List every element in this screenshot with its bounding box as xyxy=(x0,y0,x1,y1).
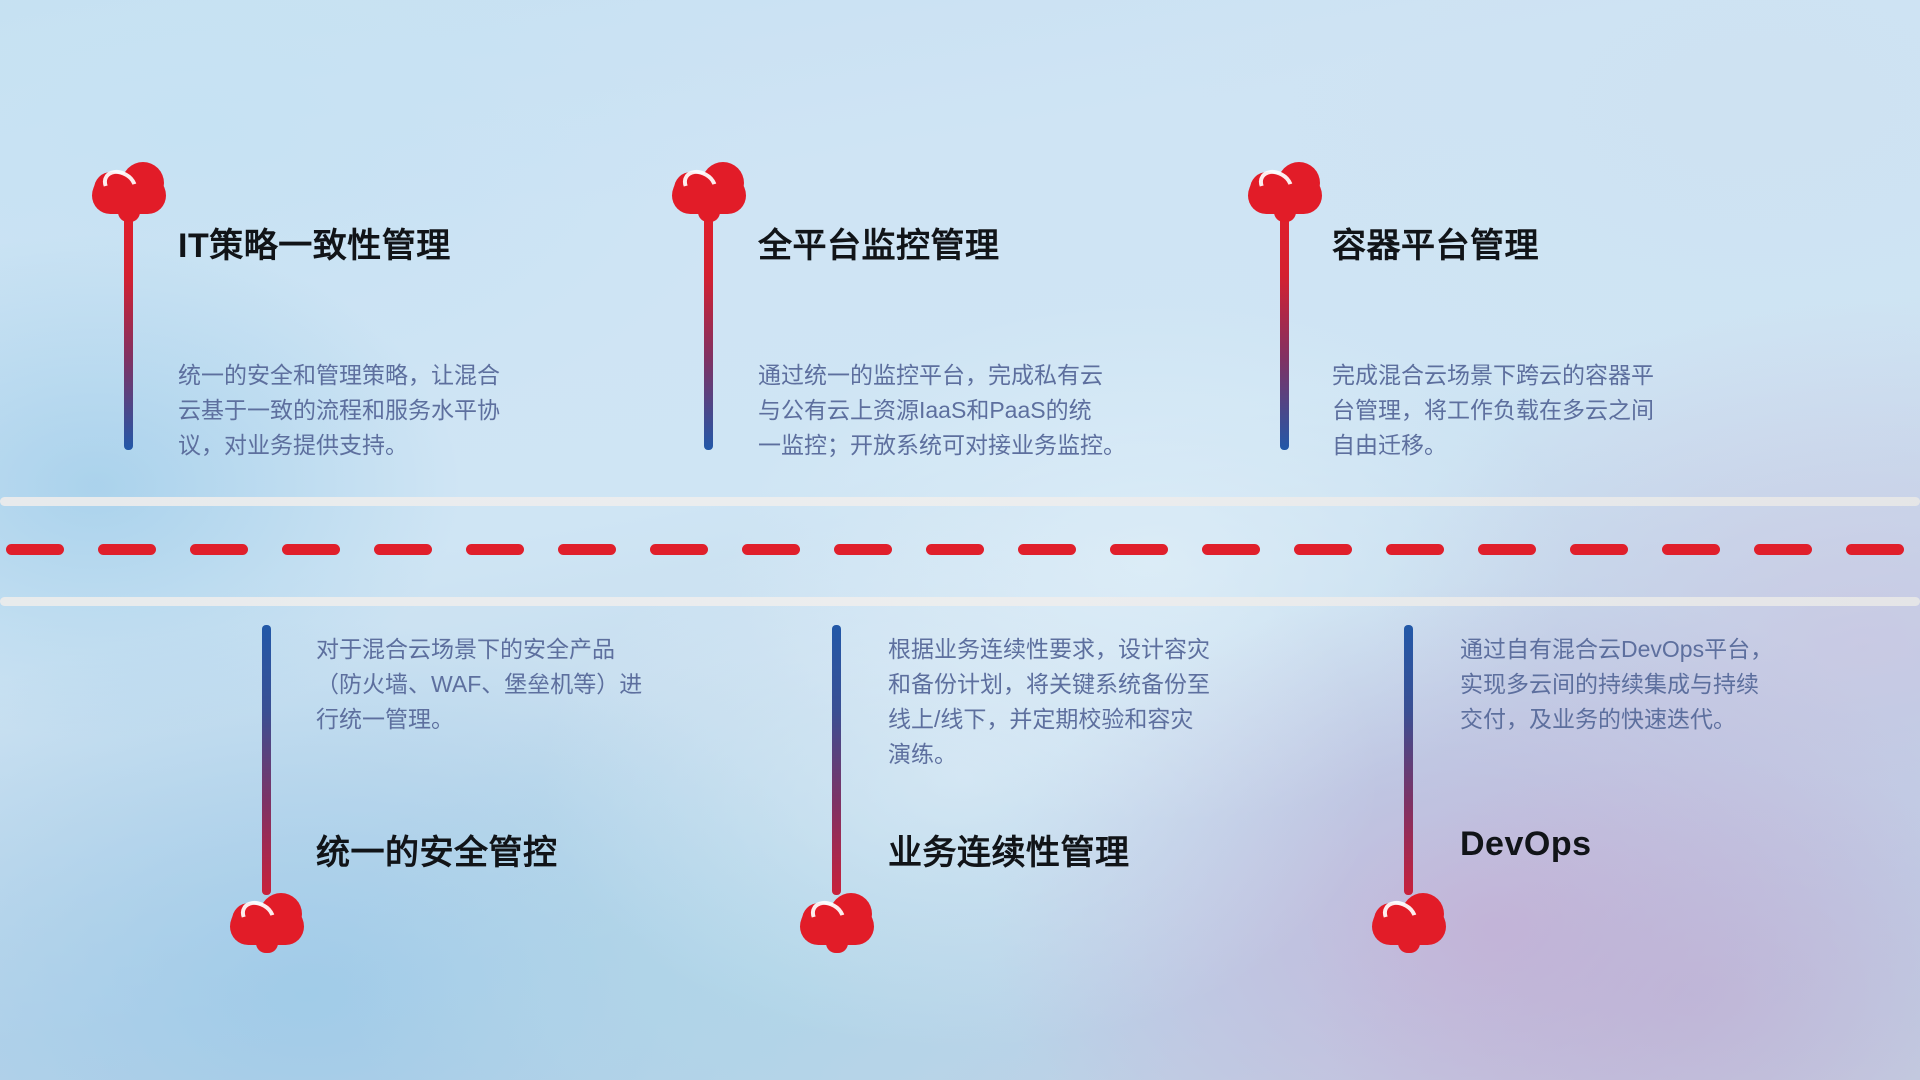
item-body-monitoring: 通过统一的监控平台，完成私有云 与公有云上资源IaaS和PaaS的统 一监控；开… xyxy=(758,358,1198,463)
divider-dash-segment xyxy=(466,544,524,555)
divider-dash-segment xyxy=(1110,544,1168,555)
divider-dash-segment xyxy=(1662,544,1720,555)
divider-dash-segment xyxy=(1294,544,1352,555)
cloud-pin-3 xyxy=(1248,162,1322,450)
item-title-monitoring: 全平台监控管理 xyxy=(758,218,1000,267)
pin-stem xyxy=(124,214,133,450)
cloud-pin-4 xyxy=(230,625,304,945)
cloud-icon xyxy=(92,162,166,214)
item-title-container-platform: 容器平台管理 xyxy=(1332,218,1539,267)
cloud-icon xyxy=(800,893,874,945)
divider-dash-segment xyxy=(834,544,892,555)
divider-dash-segment xyxy=(374,544,432,555)
item-body-it-policy: 统一的安全和管理策略，让混合 云基于一致的流程和服务水平协 议，对业务提供支持。 xyxy=(178,358,608,463)
item-title-it-policy: IT策略一致性管理 xyxy=(178,218,451,267)
cloud-icon xyxy=(1248,162,1322,214)
cloud-pin-1 xyxy=(92,162,166,450)
item-body-container-platform: 完成混合云场景下跨云的容器平 台管理，将工作负载在多云之间 自由迁移。 xyxy=(1332,358,1772,463)
cloud-icon xyxy=(1372,893,1446,945)
divider-dashed-line xyxy=(0,544,1920,555)
divider-dash-segment xyxy=(1202,544,1260,555)
cloud-pin-5 xyxy=(800,625,874,945)
divider-dash-segment xyxy=(6,544,64,555)
pin-stem xyxy=(1280,214,1289,450)
divider-dash-segment xyxy=(1386,544,1444,555)
cloud-icon xyxy=(672,162,746,214)
divider-dash-segment xyxy=(926,544,984,555)
divider-dash-segment xyxy=(1846,544,1904,555)
divider-dash-segment xyxy=(98,544,156,555)
divider-dash-segment xyxy=(742,544,800,555)
divider-dash-segment xyxy=(282,544,340,555)
infographic-canvas: IT策略一致性管理 统一的安全和管理策略，让混合 云基于一致的流程和服务水平协 … xyxy=(0,0,1920,1080)
divider-dash-segment xyxy=(190,544,248,555)
divider-dash-segment xyxy=(1018,544,1076,555)
cloud-icon xyxy=(230,893,304,945)
item-body-security: 对于混合云场景下的安全产品 （防火墙、WAF、堡垒机等）进 行统一管理。 xyxy=(316,632,746,737)
divider-line-top xyxy=(0,497,1920,506)
divider-line-bottom xyxy=(0,597,1920,606)
divider-dash-segment xyxy=(1570,544,1628,555)
pin-stem xyxy=(262,625,271,895)
pin-stem xyxy=(1404,625,1413,895)
item-body-devops: 通过自有混合云DevOps平台， 实现多云间的持续集成与持续 交付，及业务的快速… xyxy=(1460,632,1890,737)
pin-stem xyxy=(704,214,713,450)
divider-dash-segment xyxy=(1754,544,1812,555)
divider-dash-segment xyxy=(1478,544,1536,555)
pin-stem xyxy=(832,625,841,895)
item-title-business-continuity: 业务连续性管理 xyxy=(888,825,1130,874)
cloud-pin-2 xyxy=(672,162,746,450)
item-body-business-continuity: 根据业务连续性要求，设计容灾 和备份计划，将关键系统备份至 线上/线下，并定期校… xyxy=(888,632,1318,772)
cloud-pin-6 xyxy=(1372,625,1446,945)
divider-dash-segment xyxy=(558,544,616,555)
item-title-devops: DevOps xyxy=(1460,825,1592,864)
item-title-security: 统一的安全管控 xyxy=(316,825,558,874)
divider-dash-segment xyxy=(650,544,708,555)
